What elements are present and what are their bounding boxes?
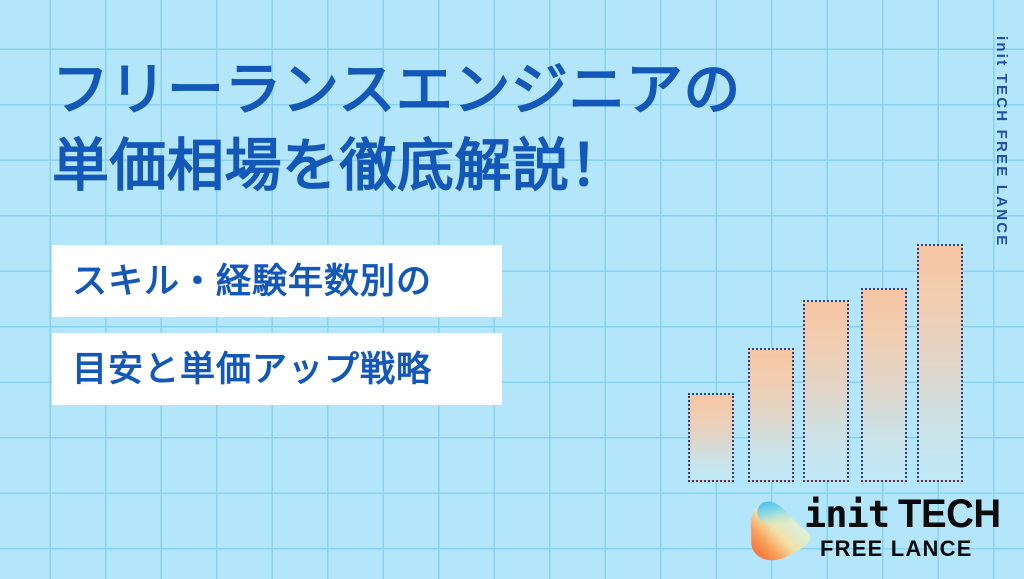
chart-bar [803, 300, 849, 482]
subtitle-band-2: 目安と単価アップ戦略 [52, 333, 502, 405]
chart-bar [688, 393, 734, 482]
subtitle-text-1: スキル・経験年数別の [52, 264, 432, 299]
logo-line-primary: init TECH [804, 494, 994, 536]
chart-bar [748, 348, 794, 482]
logo-init-text: init [804, 496, 889, 533]
page-title: フリーランスエンジニアの 単価相場を徹底解説！ [52, 52, 862, 205]
chart-bar [861, 288, 907, 482]
chart-bar [917, 244, 963, 482]
logo-tech-text: TECH [898, 494, 1001, 534]
subtitle-band-1: スキル・経験年数別の [52, 245, 502, 317]
subtitle-text-2: 目安と単価アップ戦略 [52, 352, 432, 387]
logo-wordmark: init TECH FREE LANCE [804, 494, 994, 566]
bar-chart [688, 236, 968, 482]
logo-tagline: FREE LANCE [820, 538, 994, 560]
logo: init TECH FREE LANCE [742, 494, 994, 566]
vertical-brand-text: init TECH FREE LANCE [993, 36, 1010, 248]
